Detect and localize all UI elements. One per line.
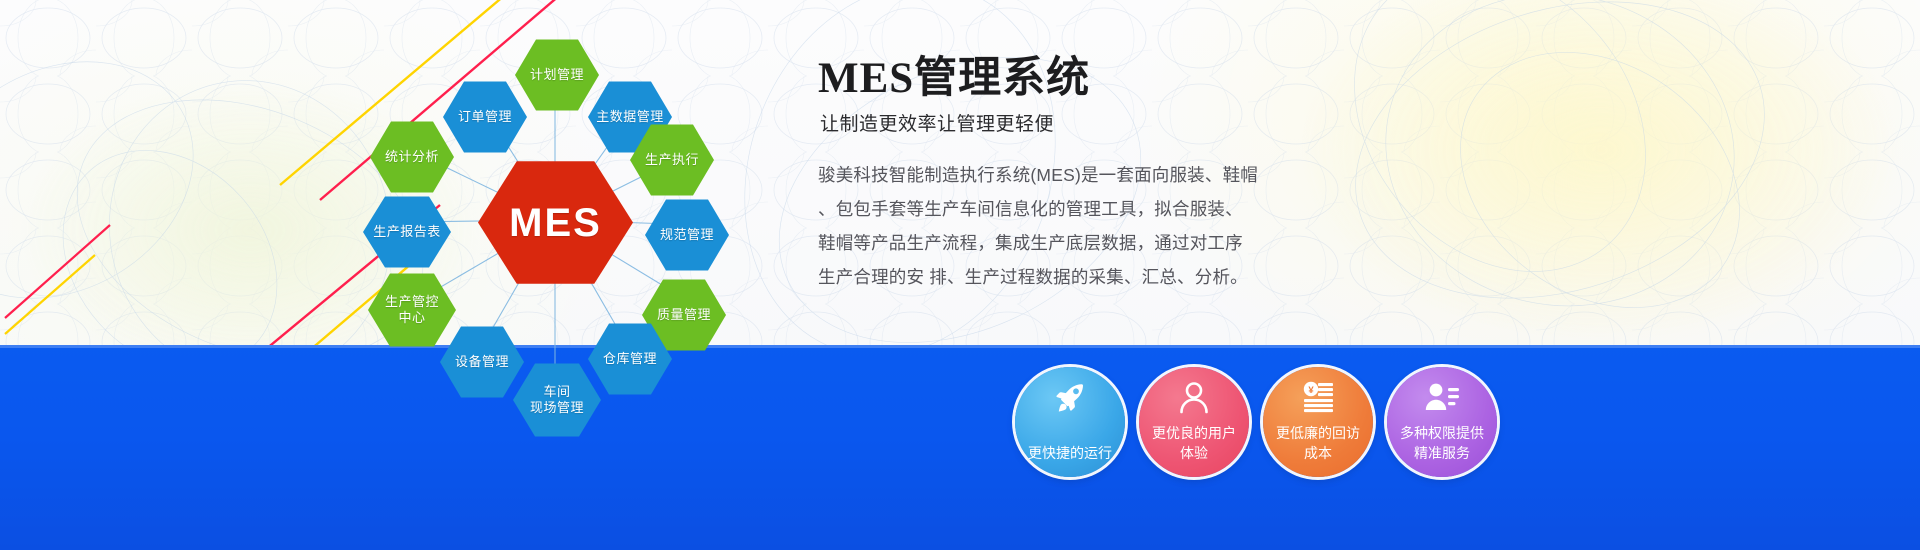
hex-label: 订单管理 xyxy=(458,109,512,125)
hex-standard-management[interactable]: 规范管理 xyxy=(645,198,729,272)
hex-label: 生产执行 xyxy=(645,152,699,168)
hex-production-report[interactable]: 生产报告表 xyxy=(363,195,451,269)
hex-label: 生产管控中心 xyxy=(385,294,439,327)
feature-badge-label: 多种权限提供精准服务 xyxy=(1400,423,1484,463)
hex-label: 统计分析 xyxy=(385,149,439,165)
hex-equipment-management[interactable]: 设备管理 xyxy=(440,325,524,399)
feature-badge-list: 更快捷的运行 更优良的用户体验 ¥ xyxy=(1015,367,1497,477)
feature-badge-better-user-experience[interactable]: 更优良的用户体验 xyxy=(1139,367,1249,477)
hex-label: 车间现场管理 xyxy=(530,384,584,417)
hex-label: 计划管理 xyxy=(530,67,584,83)
feature-badge-label: 更快捷的运行 xyxy=(1028,443,1112,463)
hex-label: 质量管理 xyxy=(657,307,711,323)
blue-bottom-band xyxy=(0,345,1920,550)
hex-statistical-analysis[interactable]: 统计分析 xyxy=(370,120,454,194)
description-paragraph: 骏美科技智能制造执行系统(MES)是一套面向服装、鞋帽 、包包手套等生产车间信息… xyxy=(818,158,1538,294)
hex-label: 生产报告表 xyxy=(373,224,441,240)
mes-hex-diagram: 计划管理 订单管理 主数据管理 统计分析 生产执行 生产报告表 规范管理 生产管… xyxy=(330,10,800,440)
hex-center-mes[interactable]: MES xyxy=(478,160,633,285)
hex-workshop-site-management[interactable]: 车间现场管理 xyxy=(513,362,601,438)
feature-badge-label: 更优良的用户体验 xyxy=(1152,423,1236,463)
rocket-icon xyxy=(1052,380,1088,416)
description-line: 鞋帽等产品生产流程，集成生产底层数据，通过对工序 xyxy=(818,226,1538,260)
hex-plan-management[interactable]: 计划管理 xyxy=(515,38,599,112)
hex-order-management[interactable]: 订单管理 xyxy=(443,80,527,154)
description-line: 生产合理的安 排、生产过程数据的采集、汇总、分析。 xyxy=(818,260,1538,294)
description-line: 、包包手套等生产车间信息化的管理工具，拟合服装、 xyxy=(818,192,1538,226)
money-icon: ¥ xyxy=(1300,380,1336,416)
page-title: MES管理系统 xyxy=(818,55,1510,103)
description-line: 骏美科技智能制造执行系统(MES)是一套面向服装、鞋帽 xyxy=(818,158,1538,192)
feature-badge-faster-operation[interactable]: 更快捷的运行 xyxy=(1015,367,1125,477)
feature-badge-label: 更低廉的回访成本 xyxy=(1276,423,1360,463)
copy-block: MES管理系统 让制造更效率让管理更轻便 骏美科技智能制造执行系统(MES)是一… xyxy=(810,55,1510,294)
svg-text:¥: ¥ xyxy=(1308,385,1314,396)
user-list-icon xyxy=(1424,380,1460,416)
hex-label: 主数据管理 xyxy=(596,109,664,125)
user-icon xyxy=(1176,380,1212,416)
hex-label: 仓库管理 xyxy=(603,351,657,367)
hex-center-label: MES xyxy=(509,198,602,248)
feature-badge-lower-revisit-cost[interactable]: ¥ 更低廉的回访成本 xyxy=(1263,367,1373,477)
page-subtitle: 让制造更效率让管理更轻便 xyxy=(820,109,1510,136)
hex-label: 设备管理 xyxy=(455,354,509,370)
hex-label: 规范管理 xyxy=(660,227,714,243)
feature-badge-multi-permission[interactable]: 多种权限提供精准服务 xyxy=(1387,367,1497,477)
mes-banner: 计划管理 订单管理 主数据管理 统计分析 生产执行 生产报告表 规范管理 生产管… xyxy=(0,0,1920,550)
hex-production-control-center[interactable]: 生产管控中心 xyxy=(368,272,456,348)
